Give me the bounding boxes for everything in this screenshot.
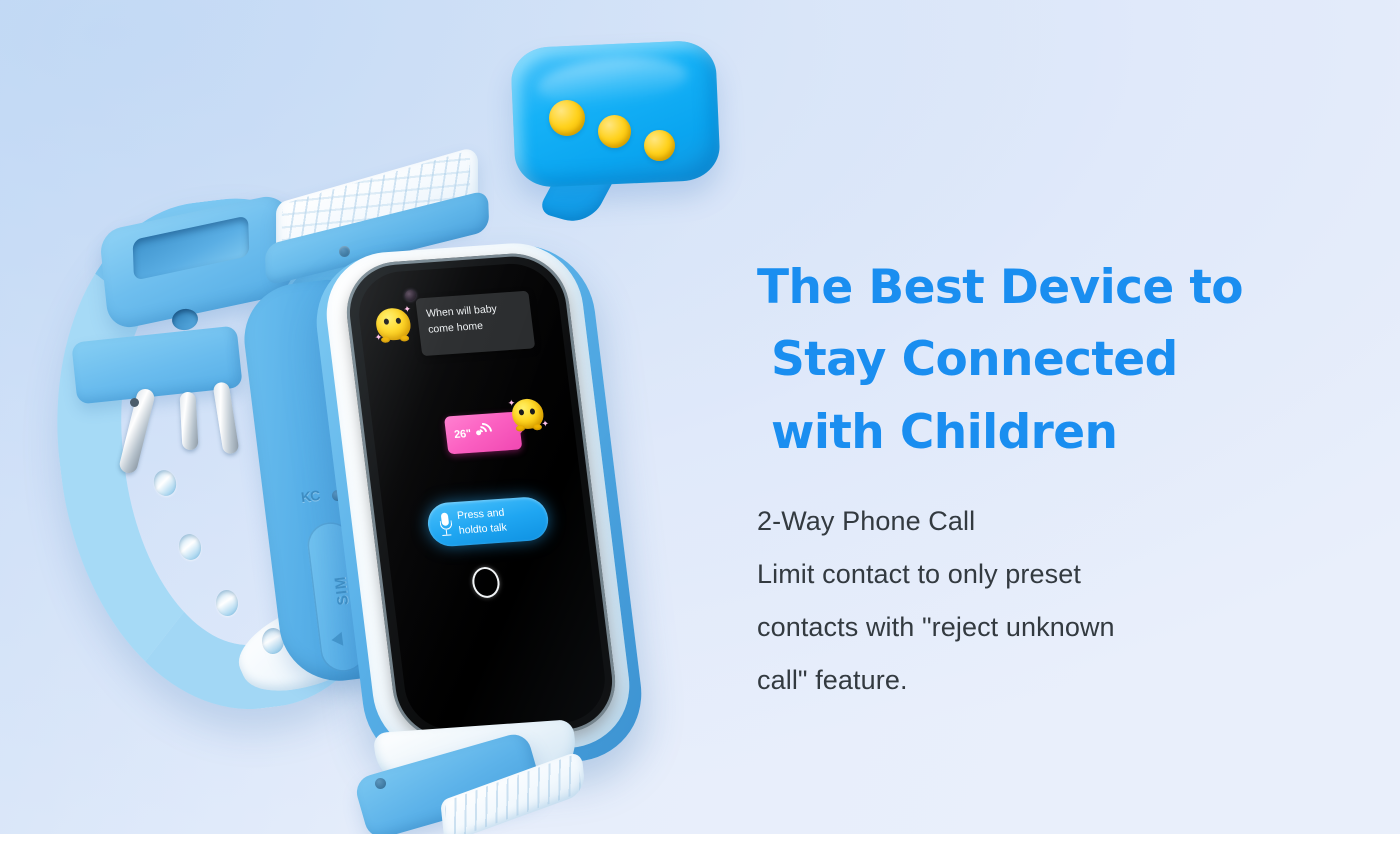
chat-bubble-body: [510, 40, 721, 189]
promo-description: 2-Way Phone Call Limit contact to only p…: [757, 495, 1277, 707]
kids-smartwatch-image: KC SIM ✦ ✦ When will baby come home 26": [40, 170, 620, 750]
sparkle-icon: ✦: [541, 419, 550, 428]
chat-bubble-dot: [598, 115, 631, 148]
microphone-icon: [438, 512, 454, 538]
incoming-message-bubble: When will baby come home: [415, 291, 535, 356]
sound-wave-icon: [474, 420, 499, 445]
description-line: call" feature.: [757, 654, 1277, 707]
talk-button-label: Press and holdto talk: [456, 505, 508, 539]
talk-button-line: holdto talk: [458, 520, 508, 538]
sparkle-icon: ✦: [507, 399, 516, 408]
voice-message-bubble[interactable]: 26": [444, 412, 523, 455]
bottom-white-strip: [0, 834, 1400, 844]
sim-direction-arrow-icon: [331, 632, 344, 647]
kc-certification-mark: KC: [300, 487, 320, 505]
sparkle-icon: ✦: [403, 305, 412, 314]
description-line: Limit contact to only preset: [757, 548, 1277, 601]
press-and-hold-to-talk-button[interactable]: Press and holdto talk: [425, 496, 550, 548]
description-line: contacts with "reject unknown: [757, 601, 1277, 654]
watch-lug-screw: [375, 778, 386, 789]
promo-copy: The Best Device to Stay Connected with C…: [757, 252, 1277, 707]
home-circle-icon[interactable]: [471, 566, 502, 599]
promo-banner: KC SIM ✦ ✦ When will baby come home 26": [0, 0, 1400, 844]
description-line: 2-Way Phone Call: [757, 495, 1277, 548]
voice-duration: 26": [453, 428, 471, 441]
page-title: The Best Device to Stay Connected with C…: [757, 252, 1277, 469]
chat-bubble-dot: [549, 100, 585, 136]
headline-line: with Children: [757, 397, 1277, 469]
headline-line: The Best Device to: [757, 252, 1277, 324]
buckle-metal-pin: [179, 392, 198, 451]
chat-bubble-dot: [644, 130, 675, 161]
headline-line: Stay Connected: [757, 324, 1277, 396]
chick-avatar-foot: [400, 335, 410, 342]
watch-lug-screw: [339, 246, 350, 257]
sparkle-icon: ✦: [374, 333, 383, 342]
buckle-pin-rivet: [130, 398, 139, 407]
